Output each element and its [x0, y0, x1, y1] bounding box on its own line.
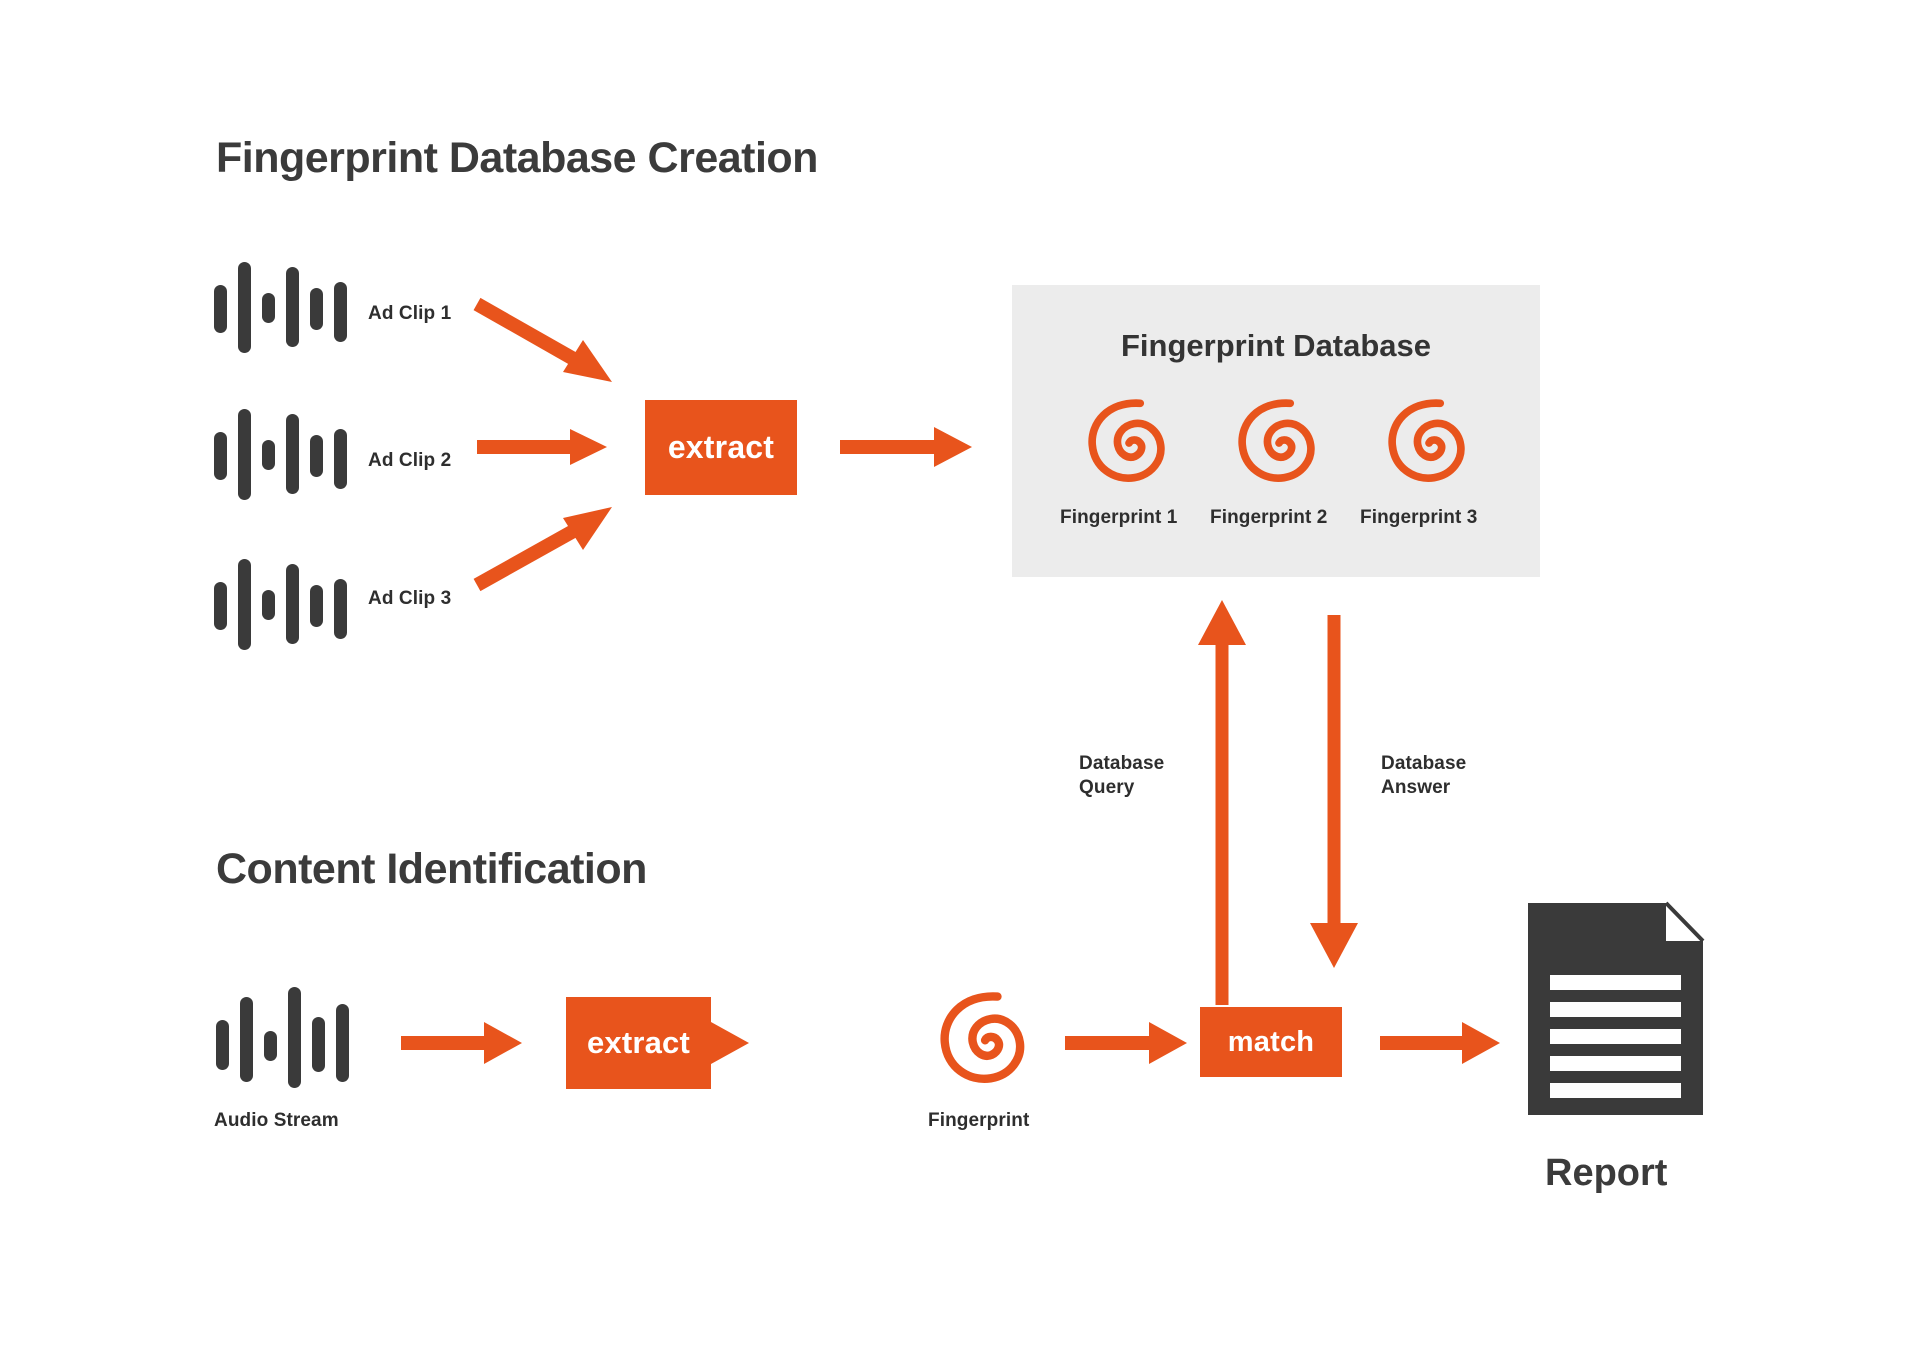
- process-box-extract-identification-label: extract: [587, 1025, 690, 1061]
- arrow-match-to-report: [1380, 1022, 1500, 1064]
- document-page-icon-report: [1528, 903, 1703, 1120]
- label-report: Report: [1545, 1152, 1667, 1195]
- process-box-match[interactable]: match: [1200, 1007, 1342, 1077]
- process-box-match-label: match: [1228, 1026, 1314, 1059]
- process-box-extract-identification[interactable]: extract: [566, 997, 711, 1089]
- arrow-fingerprint-to-match: [1065, 1022, 1187, 1064]
- diagram-canvas: Fingerprint Database Creation Ad Clip 1 …: [0, 0, 1920, 1363]
- arrow-audio-stream-to-extract: [401, 1022, 522, 1064]
- fingerprint-spiral-icon-query: [928, 982, 1040, 1099]
- label-fingerprint-query: Fingerprint: [928, 1110, 1029, 1132]
